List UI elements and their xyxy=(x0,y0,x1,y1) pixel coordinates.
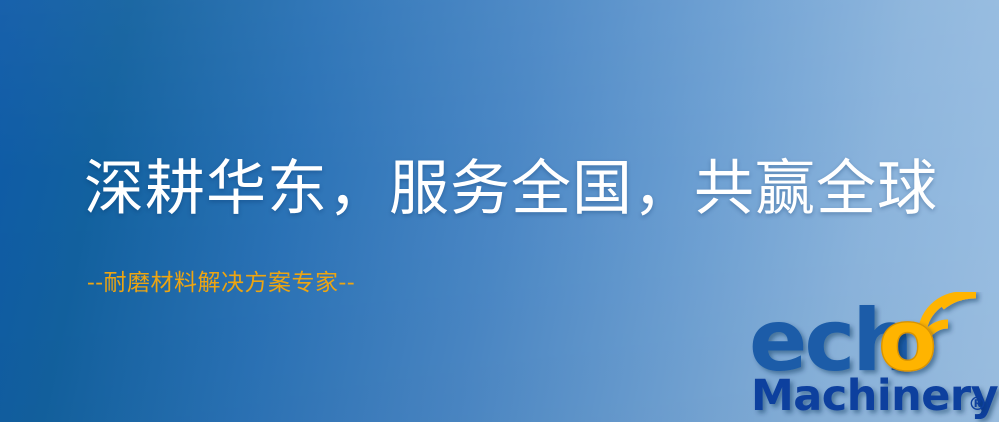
echo-machinery-logo: ech o Machinery ® xyxy=(744,292,999,422)
logo-wordmark-machinery: Machinery xyxy=(751,371,999,421)
banner-headline: 深耕华东，服务全国，共赢全球 xyxy=(84,154,938,224)
promotional-banner: 深耕华东，服务全国，共赢全球 --耐磨材料解决方案专家-- ech o Mach… xyxy=(0,0,999,422)
banner-subtitle: --耐磨材料解决方案专家-- xyxy=(87,268,355,298)
registered-trademark-icon: ® xyxy=(968,393,987,415)
